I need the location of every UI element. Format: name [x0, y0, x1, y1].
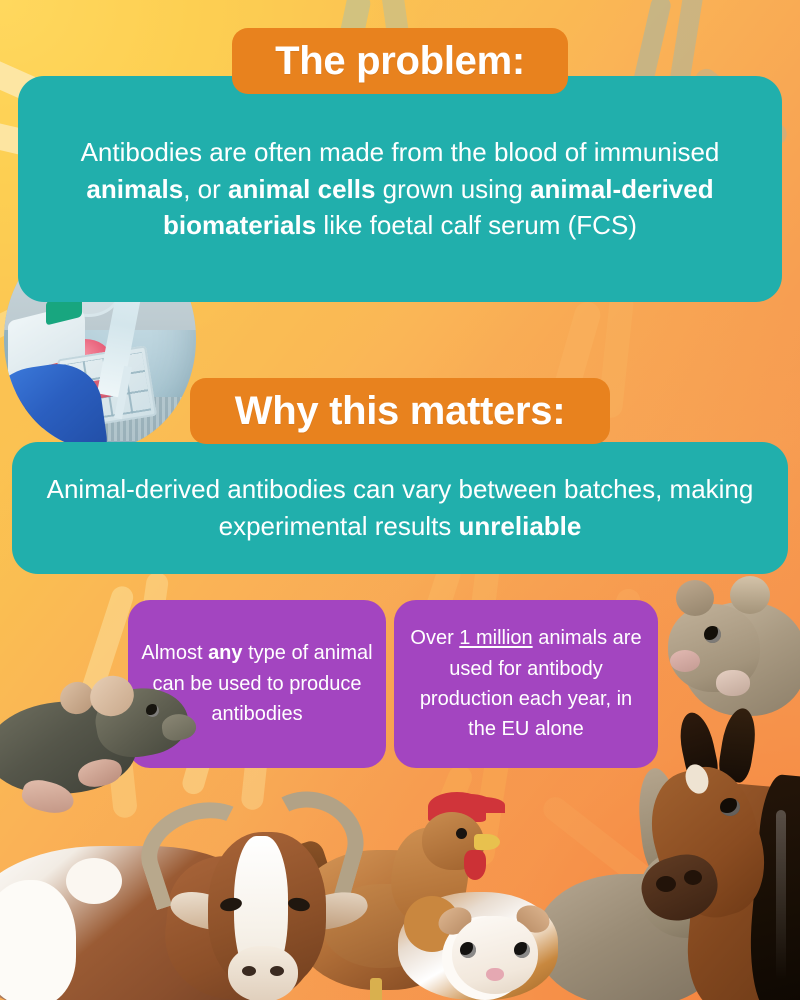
- panel-the-problem-text: Antibodies are often made from the blood…: [18, 134, 782, 245]
- stat-box-one-million: Over 1 million animals are used for anti…: [394, 600, 658, 768]
- panel-why-this-matters-text: Animal-derived antibodies can vary betwe…: [12, 471, 788, 545]
- problem-text-part-6: like foetal calf serum (FCS): [316, 210, 637, 240]
- badge-why-this-matters-label: Why this matters:: [235, 389, 566, 434]
- stat2-part-1: 1 million: [459, 627, 532, 649]
- problem-text-part-1: animals: [86, 174, 183, 204]
- guinea-pig-image: [398, 880, 578, 1000]
- panel-the-problem: Antibodies are often made from the blood…: [18, 76, 782, 302]
- problem-text-part-3: animal cells: [228, 174, 375, 204]
- badge-the-problem: The problem:: [232, 28, 568, 94]
- badge-the-problem-label: The problem:: [275, 39, 525, 84]
- matters-text-part-0: Animal-derived antibodies can vary betwe…: [47, 474, 754, 541]
- problem-text-part-4: grown using: [375, 174, 530, 204]
- goat-image: [0, 770, 350, 1000]
- matters-text-part-1: unreliable: [459, 511, 582, 541]
- badge-why-this-matters: Why this matters:: [190, 378, 610, 444]
- infographic-poster: The problem: Antibodies are often made f…: [0, 0, 800, 1000]
- horse-image: [636, 690, 800, 1000]
- panel-why-this-matters: Animal-derived antibodies can vary betwe…: [12, 442, 788, 574]
- stat-box-one-million-text: Over 1 million animals are used for anti…: [394, 623, 658, 745]
- stat1-part-0: Almost: [141, 642, 208, 664]
- problem-text-part-2: , or: [183, 174, 228, 204]
- stat2-part-0: Over: [410, 627, 459, 649]
- problem-text-part-0: Antibodies are often made from the blood…: [81, 137, 720, 167]
- stat1-part-1: any: [208, 642, 242, 664]
